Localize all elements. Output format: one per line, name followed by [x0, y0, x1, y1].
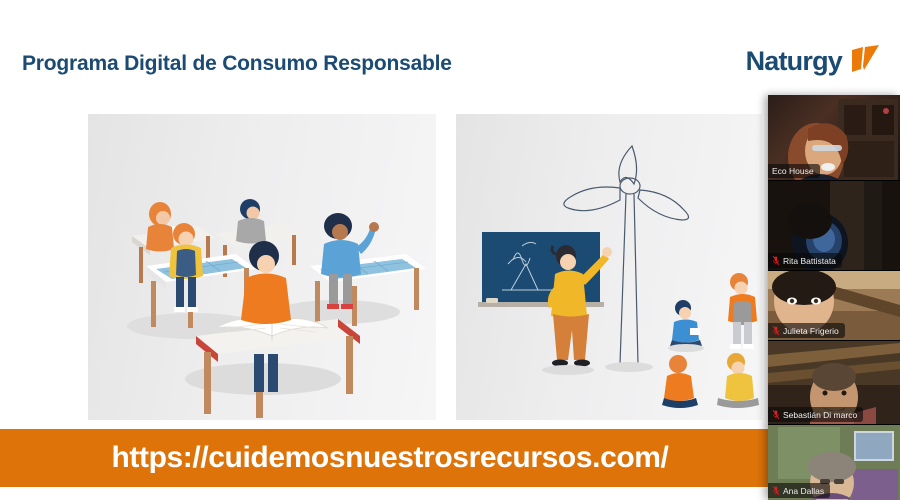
microphone-muted-icon — [772, 485, 780, 496]
screen-share-with-video-panel: Programa Digital de Consumo Responsable … — [0, 0, 900, 500]
participant-name: Ana Dallas — [783, 486, 824, 496]
participant-name-label: Julieta Frigerio — [768, 323, 845, 338]
participant-name-label: Eco House — [768, 164, 820, 178]
students-at-desks-illustration — [88, 114, 436, 420]
participant-name: Eco House — [772, 166, 814, 176]
participant-name: Rita Battistata — [783, 256, 836, 266]
naturgy-logo: Naturgy — [746, 44, 882, 78]
participant-video-strip: Eco House — [768, 95, 900, 500]
shared-slide: Programa Digital de Consumo Responsable … — [0, 0, 900, 500]
participant-name: Sebastián Di marco — [783, 410, 857, 420]
video-tile[interactable]: Ana Dallas — [768, 425, 900, 500]
brand-wordmark: Naturgy — [746, 48, 842, 75]
student-illustration-panel[interactable]: Soy Estudiante — [88, 114, 436, 420]
video-tile[interactable]: Julieta Frigerio — [768, 271, 900, 341]
video-tile[interactable]: Rita Battistata — [768, 181, 900, 271]
microphone-muted-icon — [772, 255, 780, 266]
participant-name: Julieta Frigerio — [783, 326, 839, 336]
microphone-muted-icon — [772, 325, 780, 336]
video-tile[interactable]: Eco House — [768, 95, 900, 181]
naturgy-flame-icon — [848, 44, 882, 78]
teacher-blackboard-wind-turbine-illustration — [456, 114, 762, 420]
microphone-muted-icon — [772, 409, 780, 420]
url-banner: https://cuidemosnuestrosrecursos.com/ — [0, 429, 900, 487]
teacher-illustration-panel[interactable]: Soy Docente — [456, 114, 762, 420]
video-tile[interactable]: Sebastián Di marco — [768, 341, 900, 425]
page-title: Programa Digital de Consumo Responsable — [22, 52, 452, 76]
participant-name-label: Rita Battistata — [768, 253, 842, 268]
participant-name-label: Sebastián Di marco — [768, 407, 863, 422]
participant-name-label: Ana Dallas — [768, 483, 830, 498]
program-url[interactable]: https://cuidemosnuestrosrecursos.com/ — [111, 441, 788, 475]
